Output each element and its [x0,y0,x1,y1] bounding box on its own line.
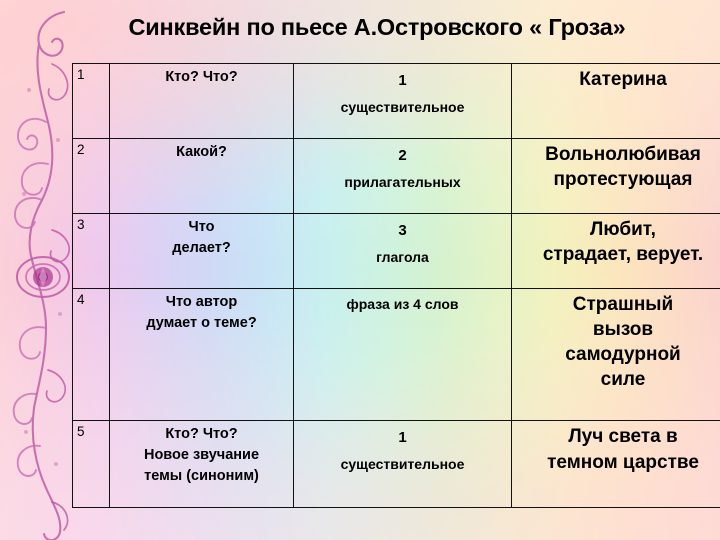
rule-count: 3 [298,217,507,245]
table-row: 2 Какой? 2 прилагательных Вольнолюбивая … [73,138,720,213]
question-line: Что автор [114,292,289,313]
row-number: 4 [73,288,110,421]
answer-line: Катерина [516,67,720,92]
question-line: Какой? [114,142,289,163]
rule-cell: 3 глагола [294,213,512,288]
page-title: Синквейн по пьесе А.Островского « Гроза» [0,14,720,41]
rule-cell: фраза из 4 слов [294,288,512,421]
table-row: 4 Что автор думает о теме? фраза из 4 сл… [73,288,720,421]
rule-word: глагола [298,245,507,271]
question-line: думает о теме? [114,313,289,334]
answer-line: Луч света в [516,424,720,449]
slide-canvas: Синквейн по пьесе А.Островского « Гроза»… [0,0,720,540]
answer-line: самодурной [516,342,720,367]
rule-count: 2 [298,142,507,170]
question-cell: Кто? Что? [110,64,294,139]
answer-cell: Любит, страдает, верует. [512,213,720,288]
question-line: Новое звучание [114,445,289,466]
answer-line: темном царстве [516,450,720,475]
sinkvein-table: 1 Кто? Что? 1 существительное Катерина 2… [72,63,720,508]
answer-cell: Катерина [512,64,720,139]
row-number: 3 [73,213,110,288]
question-line: делает? [114,238,289,259]
table-row: 5 Кто? Что? Новое звучание темы (синоним… [73,421,720,508]
rule-count: 1 [298,67,507,95]
rule-cell: 2 прилагательных [294,138,512,213]
question-line: Кто? Что? [114,67,289,88]
rule-cell: 1 существительное [294,421,512,508]
rule-word: существительное [298,452,507,478]
answer-line: вызов [516,317,720,342]
rule-cell: 1 существительное [294,64,512,139]
answer-line: страдает, верует. [516,242,720,267]
rule-word: существительное [298,95,507,121]
rule-count: 1 [298,424,507,452]
question-cell: Что делает? [110,213,294,288]
answer-line: Любит, [516,217,720,242]
answer-line: Страшный [516,292,720,317]
question-cell: Что автор думает о теме? [110,288,294,421]
answer-cell: Луч света в темном царстве [512,421,720,508]
rule-word: фраза из 4 слов [298,292,507,318]
answer-cell: Страшный вызов самодурной силе [512,288,720,421]
row-number: 1 [73,64,110,139]
row-number: 2 [73,138,110,213]
question-cell: Кто? Что? Новое звучание темы (синоним) [110,421,294,508]
question-line: Кто? Что? [114,424,289,445]
question-line: темы (синоним) [114,466,289,487]
answer-line: Вольнолюбивая [516,142,720,167]
answer-line: силе [516,367,720,392]
question-cell: Какой? [110,138,294,213]
rule-word: прилагательных [298,170,507,196]
answer-line: протестующая [516,167,720,192]
row-number: 5 [73,421,110,508]
answer-cell: Вольнолюбивая протестующая [512,138,720,213]
table-row: 3 Что делает? 3 глагола Любит, страдает,… [73,213,720,288]
question-line: Что [114,217,289,238]
table-row: 1 Кто? Что? 1 существительное Катерина [73,64,720,139]
